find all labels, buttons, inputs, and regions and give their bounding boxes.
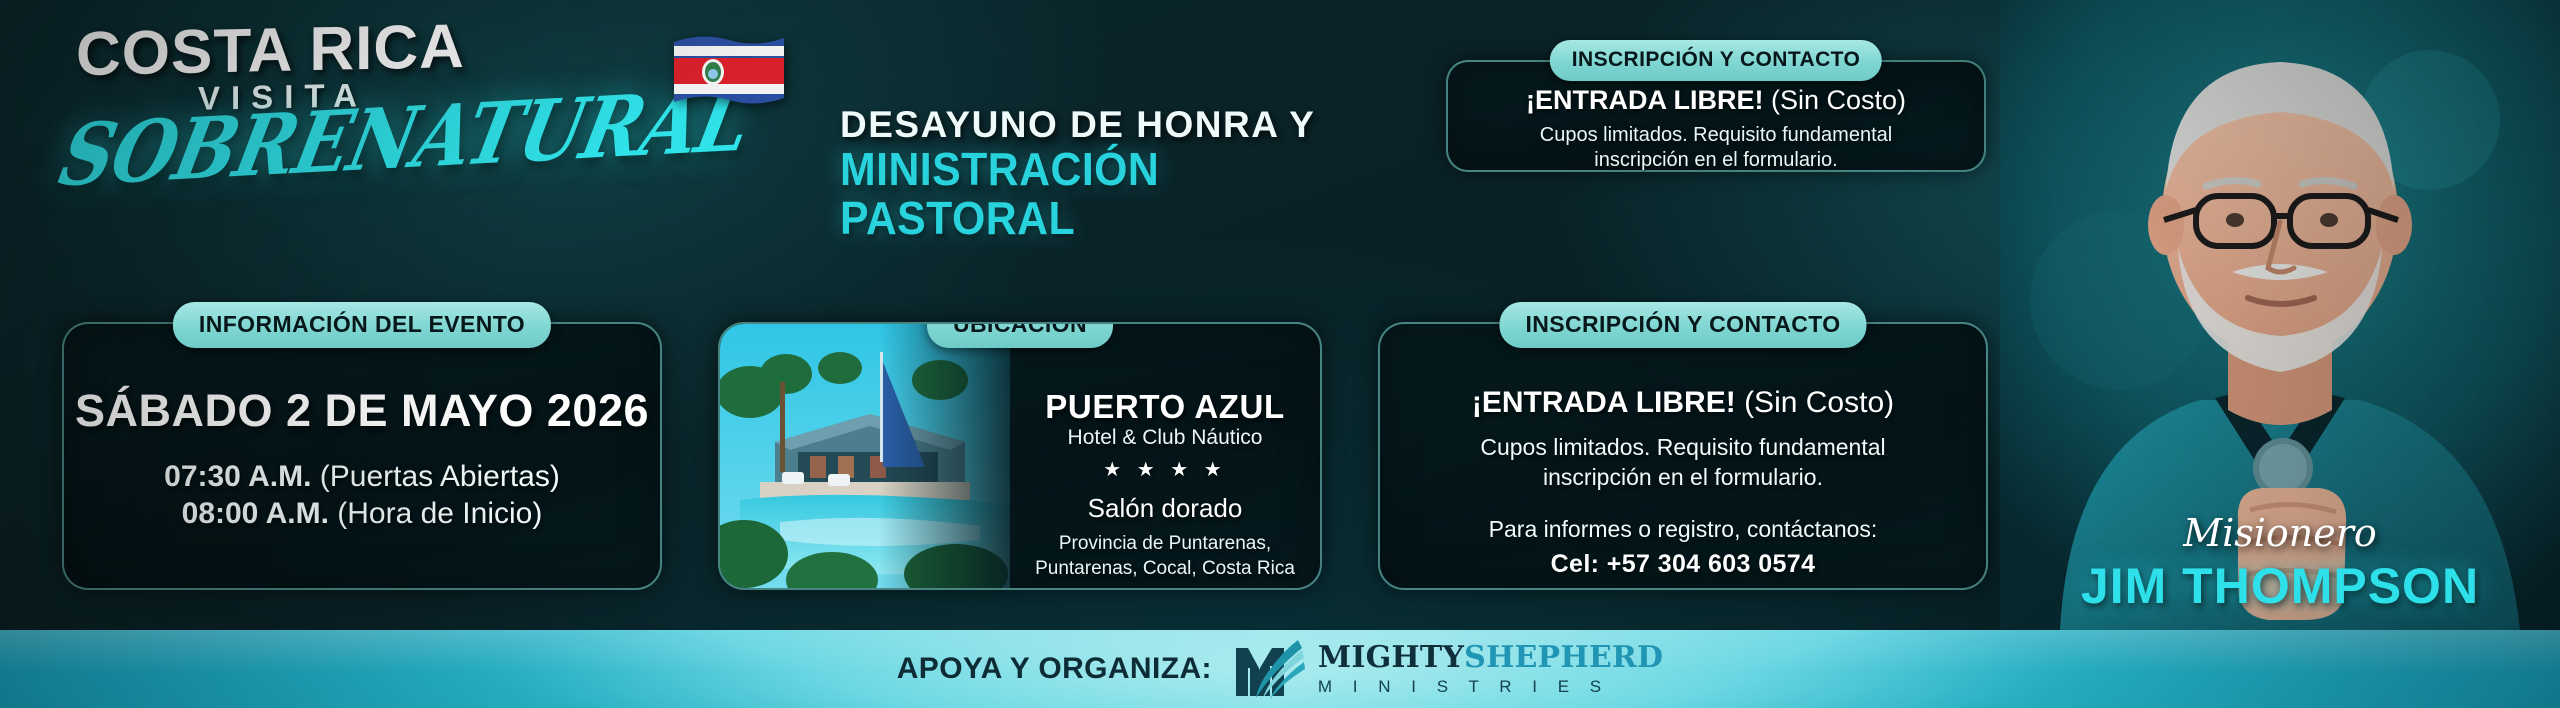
speaker-role: Misionero (2000, 514, 2560, 552)
venue-address-2: Puntarenas, Cocal, Costa Rica (1035, 558, 1295, 579)
inscription-top-note-2: inscripción en el formulario. (1594, 149, 1837, 171)
contact-lead-bold: ¡ENTRADA LIBRE! (1472, 386, 1736, 419)
location-badge: UBICACIÓN (927, 322, 1113, 348)
event-time-2-rest: (Hora de Inicio) (329, 497, 542, 530)
sponsor-label: APOYA Y ORGANIZA: (897, 652, 1212, 686)
contact-card: INSCRIPCIÓN Y CONTACTO ¡ENTRADA LIBRE! (… (1378, 322, 1988, 590)
inscription-top-badge: INSCRIPCIÓN Y CONTACTO (1550, 40, 1882, 81)
costa-rica-flag-icon (670, 30, 788, 114)
inscription-top-note-1: Cupos limitados. Requisito fundamental (1540, 124, 1892, 146)
venue-hall: Salón dorado (1024, 493, 1306, 524)
contact-lead-rest: (Sin Costo) (1736, 386, 1894, 419)
contact-badge: INSCRIPCIÓN Y CONTACTO (1499, 302, 1866, 348)
contact-phone[interactable]: Cel: +57 304 603 0574 (1380, 548, 1986, 581)
event-banner: COSTA RICA VISITA SOBRENATURAL DESAYUNO … (0, 0, 2560, 708)
event-time-2-bold: 08:00 A.M. (182, 497, 329, 530)
logo-word-mighty: MIGHTY (1318, 640, 1464, 675)
subtitle-line-1: DESAYUNO DE HONRA Y (840, 104, 1380, 145)
venue-name: PUERTO AZUL (1024, 390, 1306, 423)
inscription-top-lead-rest: (Sin Costo) (1763, 85, 1906, 115)
event-date: SÁBADO 2 DE MAYO 2026 (64, 386, 660, 436)
speaker-caption: Misionero JIM THOMPSON (2000, 514, 2560, 613)
logo-word-ministries: M I N I S T R I E S (1318, 678, 1663, 695)
venue-address-1: Provincia de Puntarenas, (1059, 533, 1271, 554)
subtitle-line-2: MINISTRACIÓN PASTORAL (840, 145, 1342, 243)
venue-photo (720, 324, 1010, 588)
contact-prompt: Para informes o registro, contáctanos: (1489, 516, 1878, 542)
event-time-1-rest: (Puertas Abiertas) (311, 460, 559, 493)
inscription-top-lead-bold: ¡ENTRADA LIBRE! (1526, 85, 1763, 115)
sobrenatural-wordmark: SOBRENATURAL (53, 78, 757, 199)
venue-address: Provincia de Puntarenas, Puntarenas, Coc… (1024, 532, 1306, 581)
mighty-shepherd-logo: MIGHTYSHEPHERD M I N I S T R I E S (1232, 638, 1663, 700)
sponsor-footer: APOYA Y ORGANIZA: MIGHTYSHEPHERD M I N I… (0, 630, 2560, 708)
contact-note-1: Cupos limitados. Requisito fundamental (1480, 434, 1885, 460)
event-subtitle: DESAYUNO DE HONRA Y MINISTRACIÓN PASTORA… (840, 104, 1380, 243)
contact-note: Cupos limitados. Requisito fundamental i… (1380, 433, 1986, 493)
inscription-top-lead: ¡ENTRADA LIBRE! (Sin Costo) (1448, 86, 1984, 116)
contact-info: Para informes o registro, contáctanos: C… (1380, 515, 1986, 580)
inscription-card-top: INSCRIPCIÓN Y CONTACTO ¡ENTRADA LIBRE! (… (1446, 60, 1986, 172)
speaker-portrait: Misionero JIM THOMPSON (2000, 0, 2560, 630)
event-time-1-bold: 07:30 A.M. (164, 460, 311, 493)
speaker-name: JIM THOMPSON (2000, 560, 2560, 613)
contact-note-2: inscripción en el formulario. (1543, 464, 1823, 490)
brand-logo-block: COSTA RICA VISITA SOBRENATURAL (58, 14, 698, 194)
country-title: COSTA RICA (76, 16, 465, 86)
venue-star-rating: ★ ★ ★ ★ (1024, 457, 1306, 482)
event-times: 07:30 A.M. (Puertas Abiertas) 08:00 A.M.… (64, 458, 660, 533)
event-info-card: INFORMACIÓN DEL EVENTO SÁBADO 2 DE MAYO … (62, 322, 662, 590)
event-info-badge: INFORMACIÓN DEL EVENTO (173, 302, 551, 348)
logo-word-shepherd: SHEPHERD (1464, 640, 1663, 675)
location-card: UBICACIÓN (718, 322, 1322, 590)
inscription-top-note: Cupos limitados. Requisito fundamental i… (1448, 123, 1984, 174)
mighty-shepherd-m-icon (1232, 638, 1306, 700)
contact-lead: ¡ENTRADA LIBRE! (Sin Costo) (1380, 386, 1986, 419)
venue-type: Hotel & Club Náutico (1024, 426, 1306, 450)
